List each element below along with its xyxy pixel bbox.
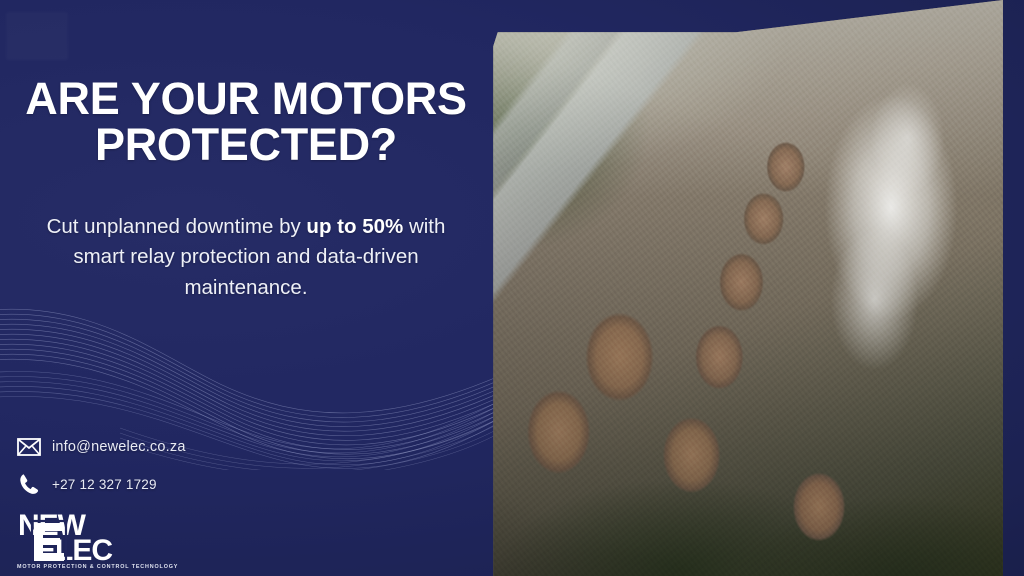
- corner-accent-block: [6, 12, 68, 60]
- email-address: info@newelec.co.za: [52, 439, 186, 455]
- contact-block: info@newelec.co.za +27 12 327 1729: [16, 434, 186, 497]
- contact-row-phone[interactable]: +27 12 327 1729: [16, 471, 186, 497]
- photo-shadow-overlay: [470, 0, 1024, 576]
- headline: ARE YOUR MOTORS PROTECTED?: [24, 76, 468, 169]
- newelec-logo[interactable]: NEW ELEC MOTOR PROTECTION & CONTROL TECH…: [14, 507, 204, 569]
- subheading-part-1: Cut unplanned downtime by: [47, 215, 307, 238]
- promo-banner: ARE YOUR MOTORS PROTECTED? Cut unplanned…: [0, 0, 1024, 576]
- aerial-industrial-plant-photo: [470, 0, 1024, 576]
- headline-line-1: ARE YOUR MOTORS: [24, 76, 468, 122]
- logo-tagline: MOTOR PROTECTION & CONTROL TECHNOLOGY: [17, 564, 178, 569]
- phone-icon: [16, 471, 42, 497]
- headline-line-2: PROTECTED?: [24, 122, 468, 168]
- phone-number: +27 12 327 1729: [52, 477, 157, 492]
- subheading-emphasis: up to 50%: [306, 215, 403, 238]
- contact-row-email[interactable]: info@newelec.co.za: [16, 434, 186, 460]
- envelope-icon: [16, 434, 42, 460]
- subheading: Cut unplanned downtime by up to 50% with…: [26, 212, 466, 303]
